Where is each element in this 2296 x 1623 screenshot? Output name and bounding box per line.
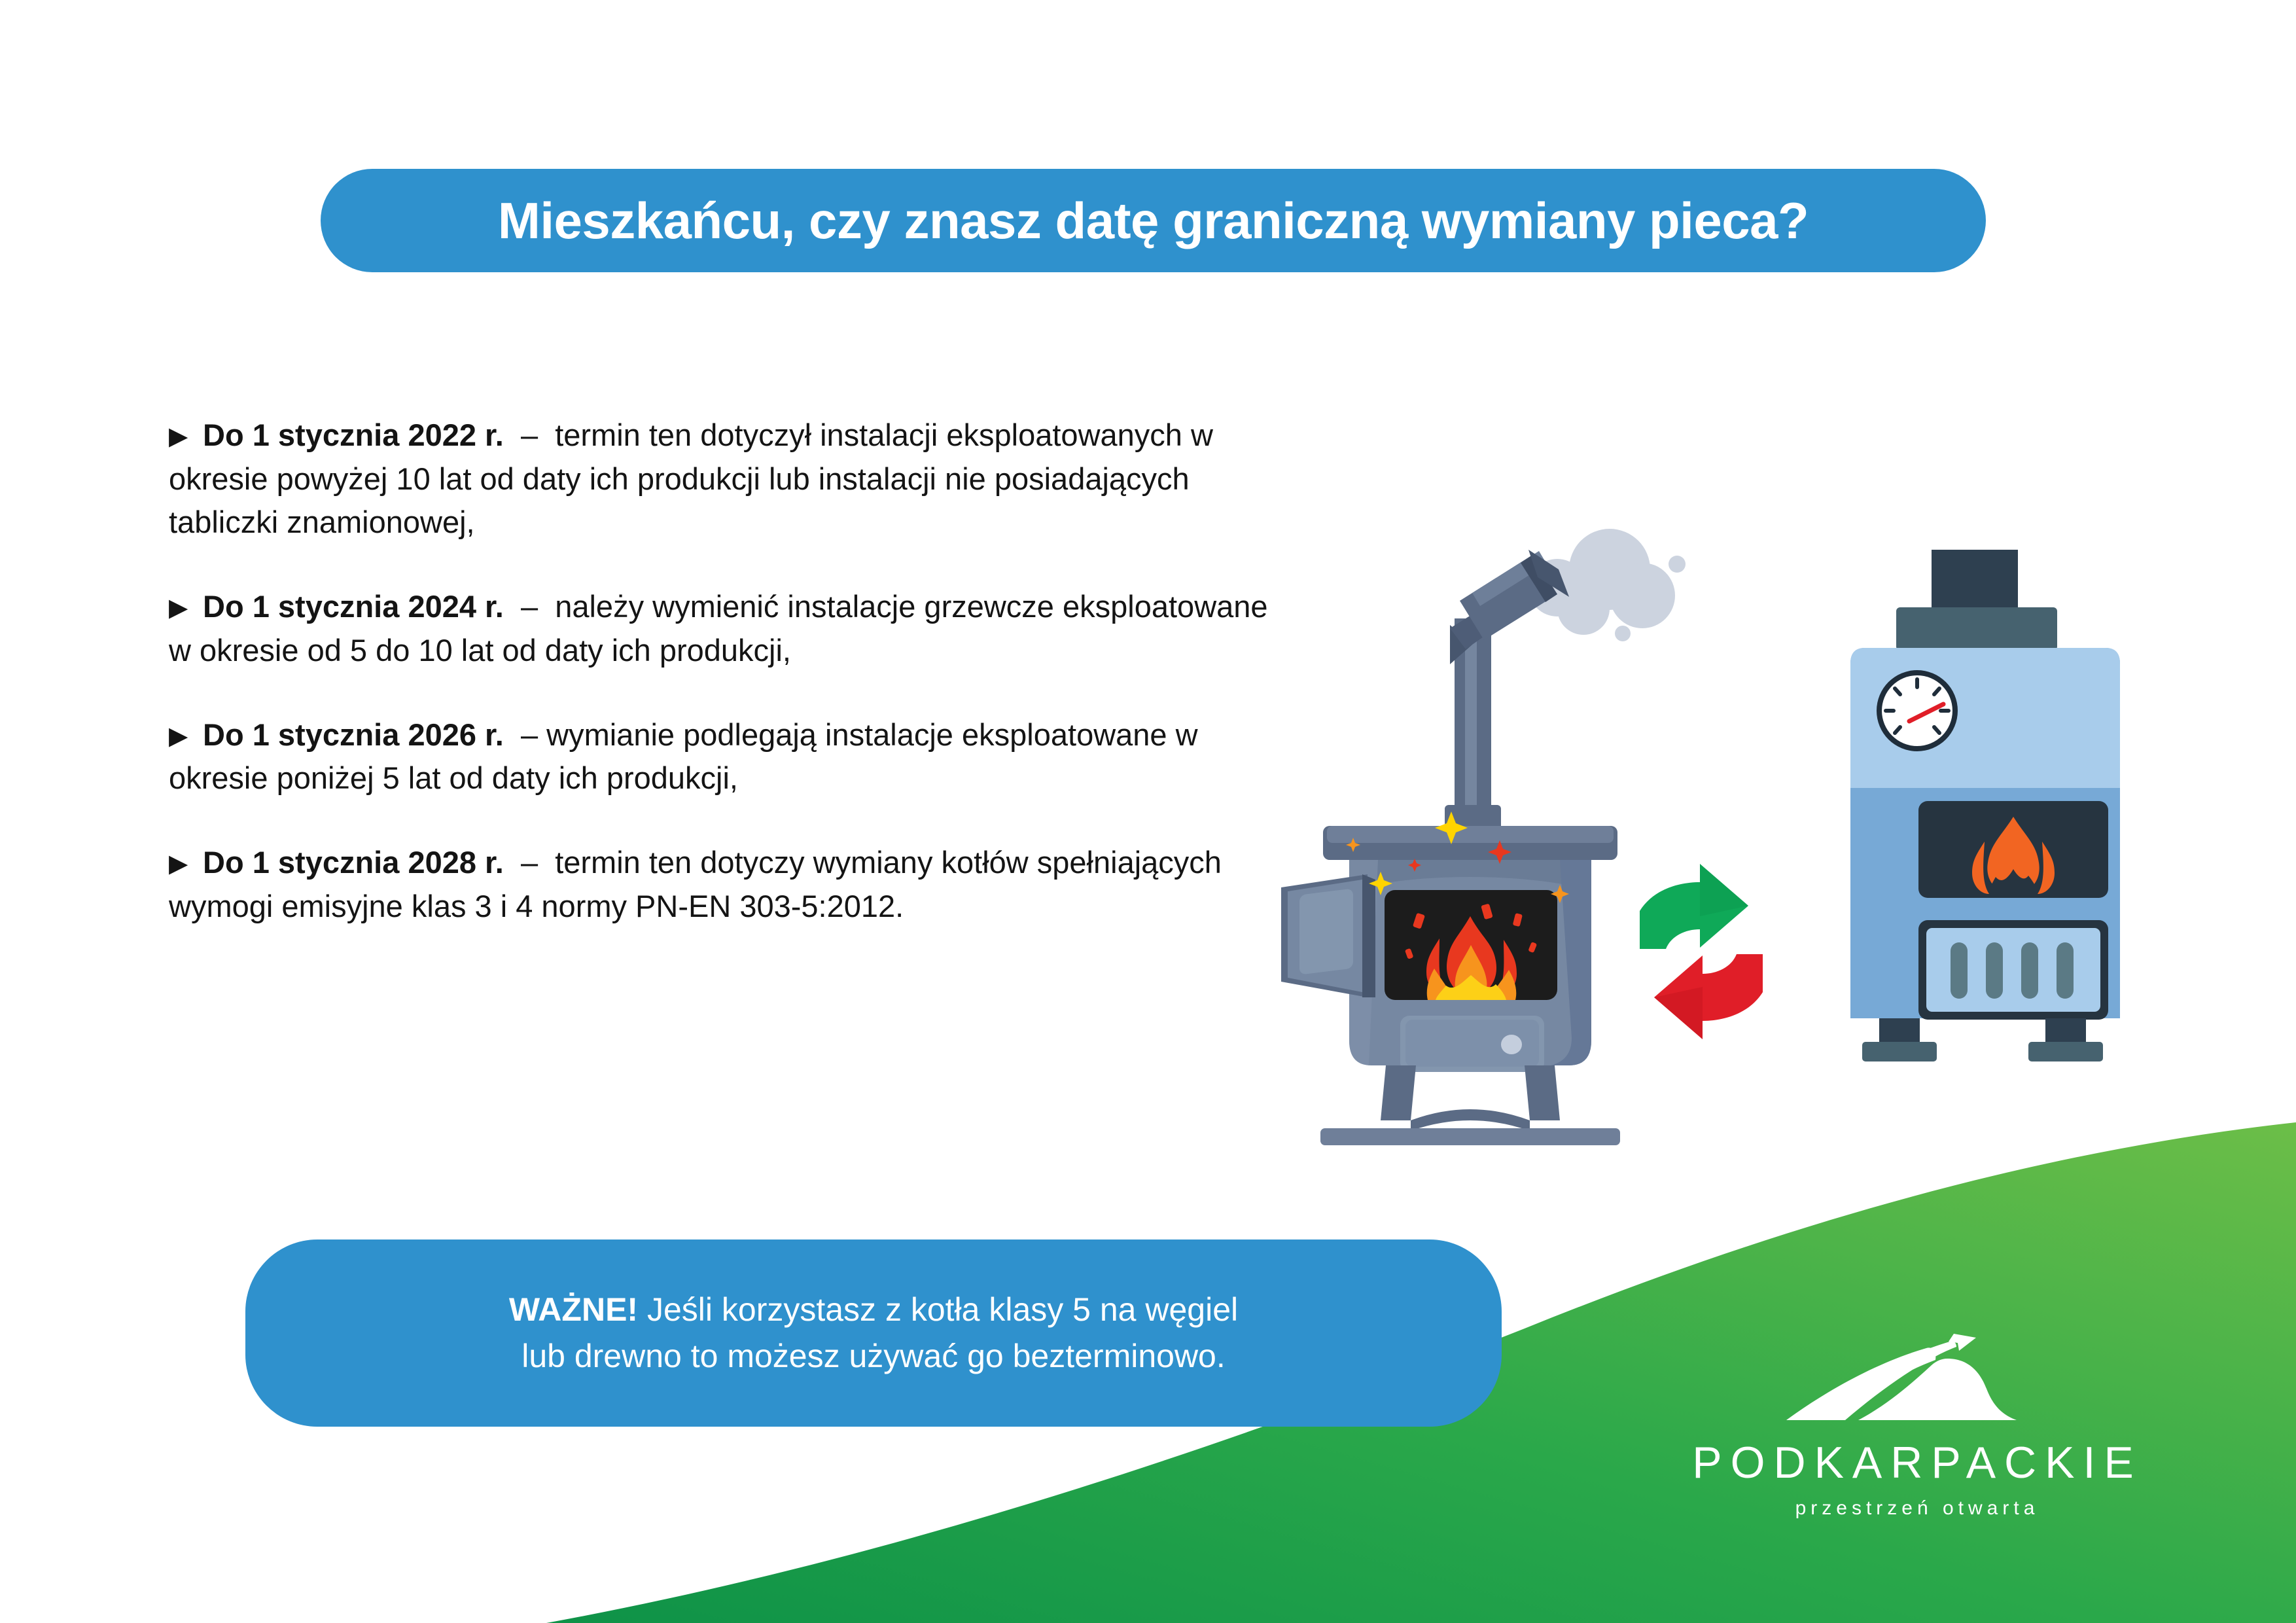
firebox-window <box>1385 890 1557 1000</box>
callout-line-2: lub drewno to możesz używać go beztermin… <box>521 1333 1226 1380</box>
ash-drawer[interactable] <box>1400 1016 1544 1072</box>
list-item: ▶Do 1 stycznia 2026 r. – wymianie podleg… <box>169 713 1268 800</box>
chimney-pipe <box>1445 550 1569 831</box>
list-item: ▶Do 1 stycznia 2028 r. – termin ten doty… <box>169 841 1268 928</box>
deadline-list: ▶Do 1 stycznia 2022 r. – termin ten doty… <box>169 414 1268 929</box>
deadline-date: Do 1 stycznia 2024 r. <box>203 589 504 624</box>
dash-separator: – <box>521 418 538 452</box>
triangle-bullet-icon: ▶ <box>169 419 203 455</box>
pressure-gauge-icon <box>1877 670 1958 751</box>
stove-replacement-illustration <box>1276 524 2192 1178</box>
stove-door[interactable] <box>1281 874 1375 997</box>
podkarpackie-mountain-arrow-mark <box>1760 1329 2074 1433</box>
callout-emphasis: WAŻNE! <box>509 1291 638 1328</box>
triangle-bullet-icon: ▶ <box>169 591 203 626</box>
callout-line-1: WAŻNE! Jeśli korzystasz z kotła klasy 5 … <box>509 1287 1238 1333</box>
logo-wordmark: PODKARPACKIE <box>1692 1437 2142 1488</box>
important-note-callout: WAŻNE! Jeśli korzystasz z kotła klasy 5 … <box>245 1240 1502 1427</box>
callout-line-1-text: Jeśli korzystasz z kotła klasy 5 na węgi… <box>647 1291 1238 1328</box>
page-title: Mieszkańcu, czy znasz datę graniczną wym… <box>498 195 1809 246</box>
stove-legs <box>1320 1065 1620 1145</box>
modern-boiler-illustration <box>1850 550 2120 1061</box>
podkarpackie-logo: PODKARPACKIE przestrzeń otwarta <box>1646 1329 2189 1538</box>
list-item: ▶Do 1 stycznia 2022 r. – termin ten doty… <box>169 414 1268 544</box>
list-item: ▶Do 1 stycznia 2024 r. – należy wymienić… <box>169 585 1268 672</box>
stove-top-plate <box>1323 826 1617 860</box>
dash-separator: – <box>521 845 538 880</box>
page-title-banner: Mieszkańcu, czy znasz datę graniczną wym… <box>321 169 1986 272</box>
deadline-date: Do 1 stycznia 2028 r. <box>203 845 504 880</box>
red-left-arrow-icon <box>1654 954 1763 1039</box>
infographic-poster: Mieszkańcu, czy znasz datę graniczną wym… <box>0 0 2296 1623</box>
deadline-date: Do 1 stycznia 2022 r. <box>203 418 504 452</box>
deadline-date: Do 1 stycznia 2026 r. <box>203 717 504 752</box>
triangle-bullet-icon: ▶ <box>169 847 203 882</box>
triangle-bullet-icon: ▶ <box>169 719 203 755</box>
logo-tagline: przestrzeń otwarta <box>1795 1497 2040 1520</box>
green-right-arrow-icon <box>1640 864 1748 949</box>
dash-separator: – <box>521 589 538 624</box>
dash-separator: – <box>521 717 538 752</box>
